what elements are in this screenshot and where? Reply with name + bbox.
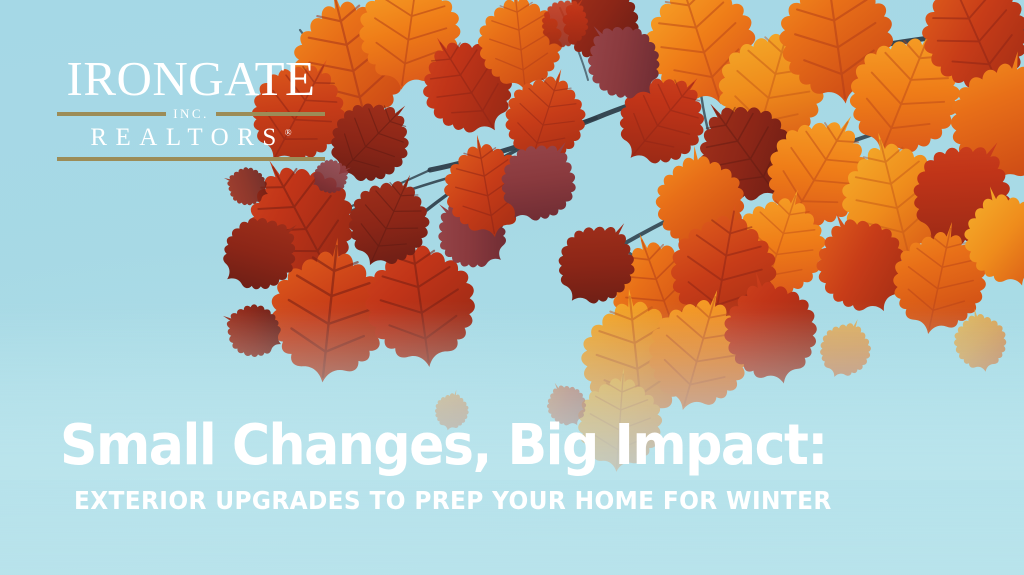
headline-block: Small Changes, Big Impact: EXTERIOR UPGR… [60,418,970,515]
logo-realtors-label: REALTORS® [57,124,325,152]
page-subtitle: EXTERIOR UPGRADES TO PREP YOUR HOME FOR … [74,486,907,515]
logo-rule-bottom [57,157,325,161]
logo-inc-label: INC. [173,106,209,122]
poster-canvas: IRONGATE INC. REALTORS® Small Changes, B… [0,0,1024,575]
registered-mark-icon: ® [285,128,292,138]
page-title: Small Changes, Big Impact: [60,418,906,474]
logo-inc-row: INC. [57,106,325,122]
logo-rule-right [216,112,325,116]
irongate-logo[interactable]: IRONGATE INC. REALTORS® [57,55,325,161]
logo-rule-left [57,112,166,116]
logo-wordmark: IRONGATE [57,55,325,103]
logo-realtors-text: REALTORS [90,124,284,151]
